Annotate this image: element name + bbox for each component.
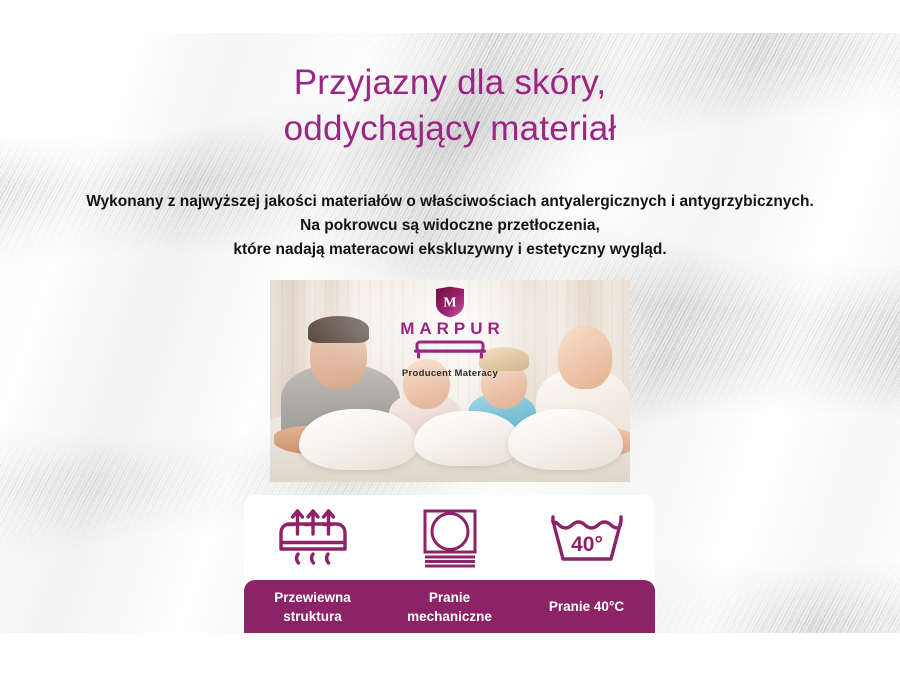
- machine-wash-icon: [417, 505, 483, 571]
- family-photo: M MARPUR Producent Materacy: [270, 280, 630, 482]
- marpur-logo: M MARPUR Producent Materacy: [350, 286, 550, 379]
- breathable-mattress-icon: [272, 505, 354, 571]
- feature-item-breathable: [244, 505, 381, 571]
- wash-temperature-label: 40°: [571, 533, 603, 556]
- feature-label-breathable: Przewiewna struktura: [244, 588, 381, 626]
- feature-icon-row: 40°: [244, 495, 655, 580]
- intro-paragraph: Wykonany z najwyższej jakości materiałów…: [0, 190, 900, 262]
- logo-wordmark: MARPUR: [350, 319, 550, 339]
- feature-item-machine-wash: [381, 505, 518, 571]
- bottom-white-strip: [0, 633, 900, 675]
- feature-item-wash-40: 40°: [518, 512, 655, 564]
- wash-tub-40-icon: 40°: [548, 512, 626, 564]
- logo-tagline: Producent Materacy: [350, 368, 550, 379]
- feature-label-machine-wash: Pranie mechaniczne: [381, 588, 518, 626]
- photo-pillow: [299, 409, 418, 470]
- photo-person-mother-head: [558, 326, 612, 389]
- bed-icon: [411, 340, 489, 359]
- feature-label-wash-40: Pranie 40°C: [518, 597, 655, 616]
- promo-page: Przyjazny dla skóry, oddychający materia…: [0, 0, 900, 675]
- badge-letter: M: [443, 296, 456, 311]
- feature-label-row: Przewiewna struktura Pranie mechaniczne …: [244, 580, 655, 633]
- page-title: Przyjazny dla skóry, oddychający materia…: [0, 60, 900, 152]
- photo-pillow: [414, 411, 522, 466]
- feature-card: 40° Przewiewna struktura Pranie mechanic…: [244, 495, 655, 633]
- hexagon-badge-icon: M: [435, 286, 465, 318]
- photo-pillow: [508, 409, 623, 470]
